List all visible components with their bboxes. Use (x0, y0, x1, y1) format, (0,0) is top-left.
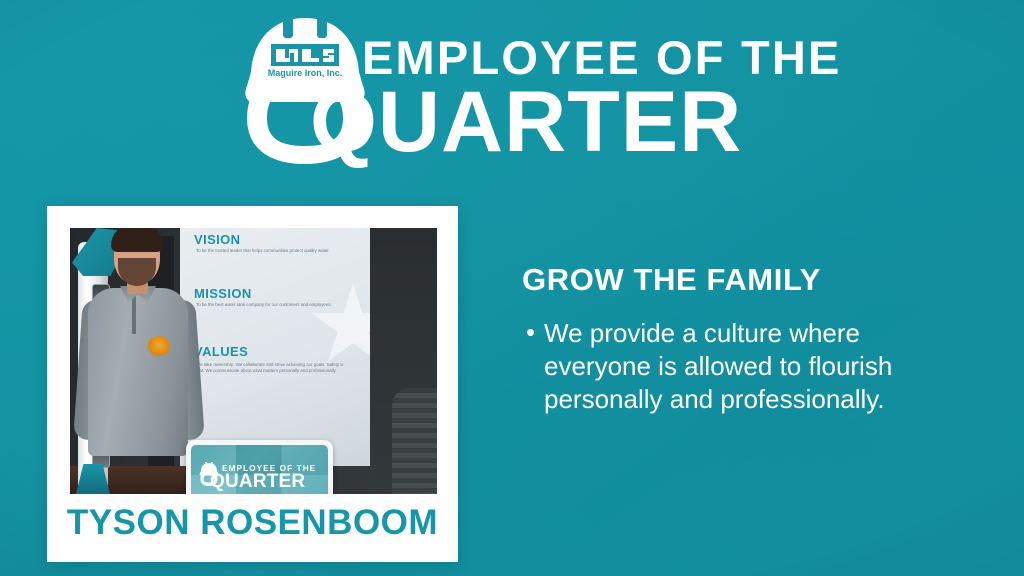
banner-sub-values: We take ownership. We collaborate and st… (196, 362, 346, 375)
value-heading: GROW THE FAMILY (522, 262, 982, 298)
value-panel: GROW THE FAMILY • We provide a culture w… (522, 262, 982, 416)
banner-sub-vision: To be the trusted leader that helps comm… (196, 248, 346, 254)
slide-root: Maguire Iron, Inc. EMPLOYEE OF THE QUART… (0, 0, 1024, 576)
banner-heading-mission: MISSION (194, 286, 252, 301)
shirt-logo-icon (148, 336, 170, 356)
photo-stacked-chairs (392, 388, 437, 494)
person-torso (88, 288, 188, 456)
bullet-marker-icon: • (522, 317, 544, 348)
title-line-2: QUARTER (310, 79, 742, 165)
banner-heading-values: VALUES (194, 344, 248, 359)
list-item: • We provide a culture where everyone is… (522, 317, 982, 416)
banner-heading-vision: VISION (194, 232, 240, 247)
banner-sub-mission: To be the best water tank company for ou… (196, 302, 346, 308)
header: Maguire Iron, Inc. EMPLOYEE OF THE QUART… (0, 0, 1024, 180)
bullet-text: We provide a culture where everyone is a… (544, 317, 916, 416)
title-block: EMPLOYEE OF THE QUARTER (362, 34, 842, 81)
photo-card: VISION To be the trusted leader that hel… (47, 206, 458, 562)
award-plaque: EMPLOYEE OF THE QUARTER (186, 440, 333, 494)
person-hair (111, 228, 163, 252)
employee-photo: VISION To be the trusted leader that hel… (70, 228, 437, 494)
plaque-line-2: QUARTER (210, 472, 305, 491)
value-bullet-list: • We provide a culture where everyone is… (522, 317, 982, 416)
employee-name-caption: TYSON ROSENBOOM (47, 503, 458, 543)
